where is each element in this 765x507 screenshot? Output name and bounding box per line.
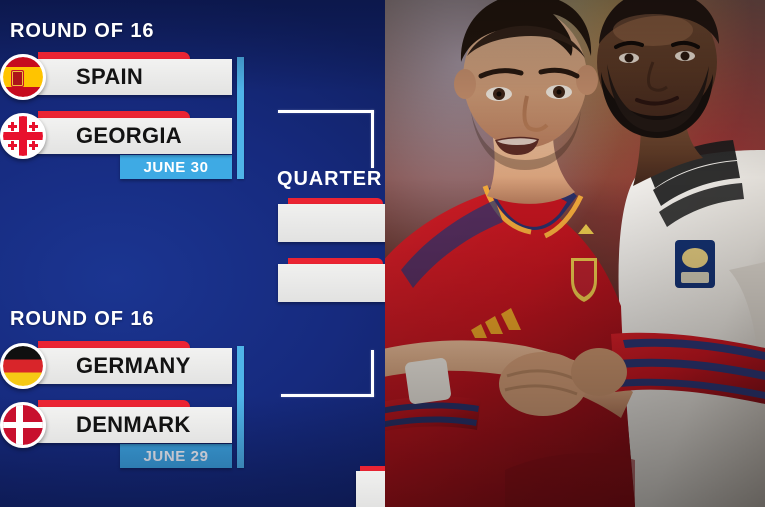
team-row-denmark[interactable]: DENMARK xyxy=(0,400,250,448)
quarter-round-label: QUARTER xyxy=(277,168,382,191)
photo-illustration xyxy=(385,0,765,507)
denmark-flag-icon xyxy=(0,402,46,448)
team-row-georgia[interactable]: GEORGIA xyxy=(0,111,250,159)
team-name-label: GEORGIA xyxy=(76,125,182,147)
team-row-spain[interactable]: SPAIN xyxy=(0,52,250,100)
team-bar[interactable]: GERMANY xyxy=(28,348,232,384)
quarter-team-bar[interactable] xyxy=(278,204,385,242)
bracket-connector-bottom-horizontal xyxy=(281,394,374,397)
team-bar[interactable]: GEORGIA xyxy=(28,118,232,154)
bracket-connector-top-vertical xyxy=(371,110,374,168)
quarter-team-bar[interactable] xyxy=(278,264,385,302)
bracket-graphic: ROUND OF 16 SPAIN GEORGIA xyxy=(0,0,765,507)
team-name-label: GERMANY xyxy=(76,355,191,377)
quarter-team-bar[interactable] xyxy=(356,471,385,507)
spain-flag-icon xyxy=(0,54,46,100)
team-bar[interactable]: SPAIN xyxy=(28,59,232,95)
match-photo xyxy=(385,0,765,507)
bracket-connector-bottom-vertical xyxy=(371,350,374,397)
germany-flag-icon xyxy=(0,343,46,389)
round-label-bottom: ROUND OF 16 xyxy=(10,308,154,331)
round-label-top: ROUND OF 16 xyxy=(10,20,154,43)
team-name-label: SPAIN xyxy=(76,66,143,88)
match-germany-denmark[interactable]: GERMANY DENMARK xyxy=(0,341,250,448)
match-date-label: JUNE 30 xyxy=(143,159,208,176)
match-spain-georgia[interactable]: SPAIN GEORGIA xyxy=(0,52,250,159)
bracket-connector-top-horizontal xyxy=(278,110,374,113)
team-row-germany[interactable]: GERMANY xyxy=(0,341,250,389)
team-bar[interactable]: DENMARK xyxy=(28,407,232,443)
team-name-label: DENMARK xyxy=(76,414,191,436)
match-date-label: JUNE 29 xyxy=(143,448,208,465)
bracket-panel: ROUND OF 16 SPAIN GEORGIA xyxy=(0,0,385,507)
georgia-flag-icon xyxy=(0,113,46,159)
